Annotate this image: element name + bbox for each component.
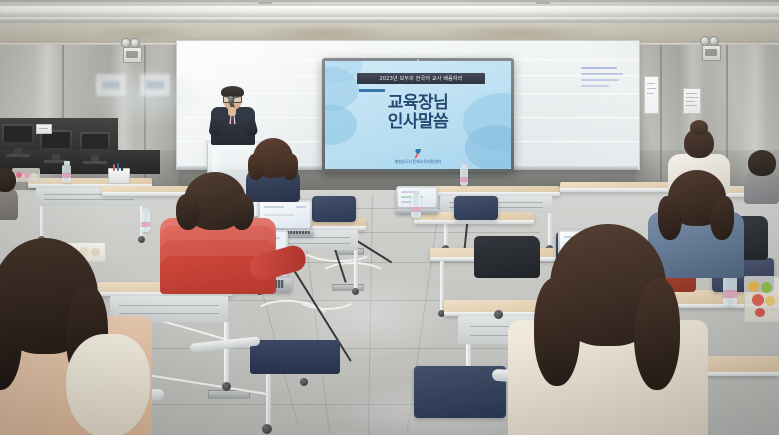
back-wall-monitor — [2, 124, 34, 148]
desk-leg — [40, 206, 44, 238]
bottle-cap — [143, 208, 149, 212]
water-bottle — [411, 195, 421, 218]
wall-reflected-document — [140, 74, 170, 96]
attendee-hair — [0, 168, 16, 192]
snack-item — [761, 282, 772, 293]
notice-text-line — [686, 105, 697, 106]
monitor-screen — [82, 134, 108, 149]
classroom-desk — [430, 186, 560, 196]
chair-caster — [262, 424, 272, 434]
emergency-light-icon — [700, 36, 722, 45]
organization-name: 충청남도다문화교육지원센터 — [325, 159, 511, 165]
wall-notice — [36, 124, 52, 134]
speaker-hand — [228, 107, 236, 116]
wall-reflected-document — [96, 74, 126, 96]
snack-item — [765, 296, 775, 306]
snack-item — [748, 281, 759, 292]
monitor-screen — [4, 126, 32, 142]
slide-banner: 2023년 모두의 한국어 교사 배움자리 — [357, 73, 485, 84]
presentation-display[interactable]: 2023년 모두의 한국어 교사 배움자리 교육장님 인사말씀 충청남도다문화교… — [322, 58, 514, 172]
slide-title-line-1: 교육장님 — [388, 93, 449, 113]
notice-text-line — [686, 101, 695, 102]
notice-text-line — [686, 93, 697, 94]
attendee-left-edge — [0, 168, 18, 218]
slide-banner-text: 2023년 모두의 한국어 교사 배움자리 — [379, 75, 462, 82]
attendee-far-right — [744, 150, 779, 202]
attendee-hair — [748, 150, 776, 176]
slide-title: 교육장님 인사말씀 — [325, 94, 511, 132]
attendee-hair-bun — [690, 120, 708, 135]
bottle-label — [723, 290, 737, 298]
microphone-head — [228, 96, 234, 102]
attendee-hair-strand — [534, 278, 580, 386]
emergency-light-housing — [702, 45, 721, 61]
chair-caster — [494, 310, 503, 319]
bottle-label — [411, 207, 421, 212]
attendee-hair-strand — [230, 194, 254, 230]
water-bottle — [460, 168, 468, 186]
chair-post — [266, 374, 271, 426]
monitor-screen — [42, 132, 70, 148]
bottle-cap — [413, 191, 419, 195]
notice-text-line — [39, 128, 48, 129]
speaker-person — [209, 88, 257, 144]
organization-mark-icon — [414, 149, 422, 158]
pen-holder — [108, 168, 130, 184]
emergency-light-label — [126, 51, 138, 58]
desk-caster — [222, 382, 231, 391]
wall-notice — [644, 76, 659, 114]
desk-leg — [354, 250, 358, 290]
screen-ui-bar — [296, 206, 306, 208]
snack-pack — [744, 276, 779, 322]
snack-item — [752, 294, 764, 306]
attendee-hair-strand — [710, 196, 734, 240]
water-bottle — [62, 165, 71, 183]
emergency-light-icon — [121, 38, 143, 47]
bottle-cap — [461, 164, 467, 168]
ceiling-light-strip — [0, 6, 779, 13]
bottle-cap — [64, 161, 70, 165]
emergency-light-housing — [123, 47, 142, 63]
desk-panel-slot — [44, 199, 133, 200]
emergency-light-label — [705, 49, 717, 56]
attendee-hair-strand — [282, 154, 298, 180]
bottle-label — [141, 222, 150, 227]
attendee-hair-strand — [176, 194, 200, 230]
wall-notice — [683, 88, 701, 114]
attendee-scarf — [66, 334, 150, 435]
back-wall-monitor — [80, 132, 110, 155]
notice-text-line — [686, 97, 698, 98]
slide-title-line-2: 인사말씀 — [325, 113, 511, 132]
reflected-document-mark — [102, 81, 120, 89]
ceiling-light-strip-secondary — [0, 17, 779, 20]
desk-leg — [224, 322, 229, 384]
notice-text-line — [647, 83, 655, 84]
slide-accent-rule — [359, 89, 385, 92]
water-bottle — [141, 212, 150, 232]
pen-icon — [113, 164, 115, 171]
desk-caster — [352, 288, 359, 295]
pen-icon — [117, 163, 119, 171]
snack-item — [24, 172, 30, 178]
seminar-room-photo: 2023년 모두의 한국어 교사 배움자리 교육장님 인사말씀 충청남도다문화교… — [0, 0, 779, 435]
classroom-chair — [312, 196, 356, 222]
ceiling-vent — [258, 2, 272, 4]
attendee-hair-strand — [634, 278, 680, 390]
slide-content: 2023년 모두의 한국어 교사 배움자리 교육장님 인사말씀 충청남도다문화교… — [325, 61, 511, 169]
notice-text-line — [647, 93, 654, 94]
pen-icon — [121, 165, 123, 171]
notice-text-line — [647, 88, 656, 89]
chair-caster — [300, 378, 308, 386]
monitor-base — [6, 154, 30, 157]
chair-seat — [250, 340, 340, 374]
attendee-front-right — [508, 224, 708, 435]
snack-item — [31, 173, 36, 178]
bottle-label — [62, 173, 71, 178]
bottle-label — [460, 177, 468, 182]
classroom-chair — [454, 196, 498, 220]
reflected-document-mark — [146, 81, 164, 89]
attendee-front-left — [0, 238, 152, 435]
ceiling-vent — [536, 2, 550, 4]
slide-organization-logo: 충청남도다문화교육지원센터 — [325, 149, 511, 165]
ceiling-seam — [0, 0, 779, 2]
snack-item — [755, 308, 765, 317]
monitor-base — [83, 161, 107, 164]
